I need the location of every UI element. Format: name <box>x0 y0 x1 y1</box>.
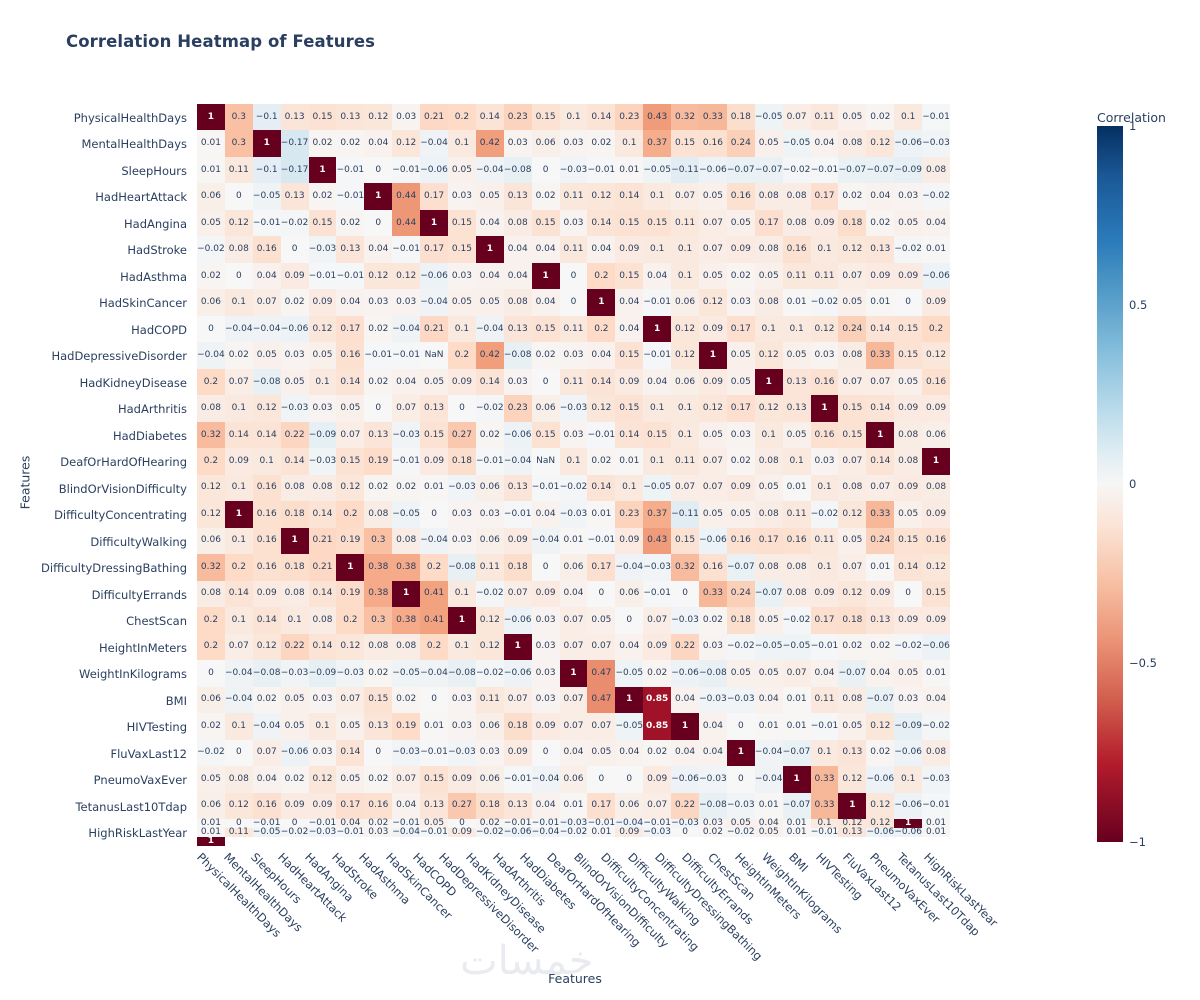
heatmap-cell[interactable]: 0.07 <box>392 395 420 421</box>
heatmap-cell[interactable]: 0 <box>420 687 448 713</box>
heatmap-cell[interactable]: −0.03 <box>448 740 476 766</box>
heatmap-cell[interactable]: 0.07 <box>699 475 727 501</box>
heatmap-cell[interactable]: −0.04 <box>476 316 504 342</box>
heatmap-cell[interactable]: 0.1 <box>894 104 922 130</box>
heatmap-cell[interactable]: −0.06 <box>671 660 699 686</box>
heatmap-cell[interactable]: −0.07 <box>755 581 783 607</box>
heatmap-cell[interactable]: 0.1 <box>671 395 699 421</box>
heatmap-cell[interactable]: 0.02 <box>532 183 560 209</box>
heatmap-cell[interactable]: 0.01 <box>197 157 225 183</box>
heatmap-cell[interactable]: 0.09 <box>894 607 922 633</box>
heatmap-cell[interactable]: −0.02 <box>476 660 504 686</box>
heatmap-cell[interactable]: 0.07 <box>643 793 671 819</box>
heatmap-cell[interactable]: 0.13 <box>364 713 392 739</box>
heatmap-cell[interactable]: 1 <box>811 395 839 421</box>
heatmap-cell[interactable]: 1 <box>336 554 364 580</box>
heatmap-cell[interactable]: 1 <box>922 448 950 474</box>
heatmap-cell[interactable]: −0.04 <box>253 713 281 739</box>
heatmap-cell[interactable]: 0.12 <box>225 793 253 819</box>
heatmap-cell[interactable]: 0.14 <box>587 210 615 236</box>
heatmap-cell[interactable]: 0.11 <box>783 263 811 289</box>
heatmap-cell[interactable]: 0.05 <box>894 660 922 686</box>
heatmap-cell[interactable]: 0.17 <box>420 183 448 209</box>
heatmap-cell[interactable]: 0.01 <box>866 554 894 580</box>
heatmap-cell[interactable]: −0.08 <box>448 660 476 686</box>
heatmap-cell[interactable]: 0.04 <box>587 236 615 262</box>
heatmap-cell[interactable]: 0.12 <box>336 475 364 501</box>
heatmap-cell[interactable]: 0 <box>225 740 253 766</box>
heatmap-cell[interactable]: 0.14 <box>309 501 337 527</box>
heatmap-cell[interactable]: −0.02 <box>727 828 755 837</box>
heatmap-cell[interactable]: 0.02 <box>309 183 337 209</box>
heatmap-cell[interactable]: −0.05 <box>253 828 281 837</box>
heatmap-cell[interactable]: 0.15 <box>838 395 866 421</box>
heatmap-cell[interactable]: −0.02 <box>197 740 225 766</box>
heatmap-cell[interactable]: 0.12 <box>671 316 699 342</box>
heatmap-cell[interactable]: 0.06 <box>615 581 643 607</box>
heatmap-cell[interactable]: −0.06 <box>894 793 922 819</box>
heatmap-cell[interactable]: 0.11 <box>560 316 588 342</box>
heatmap-cell[interactable]: 0.12 <box>866 713 894 739</box>
heatmap-cell[interactable]: 0.07 <box>783 104 811 130</box>
heatmap-cell[interactable]: 0.1 <box>643 183 671 209</box>
heatmap-cell[interactable]: 1 <box>615 687 643 713</box>
heatmap-cell[interactable]: −0.07 <box>838 660 866 686</box>
heatmap-cell[interactable]: 0.04 <box>560 581 588 607</box>
heatmap-cell[interactable]: 0.18 <box>727 104 755 130</box>
heatmap-cell[interactable]: 0.04 <box>811 660 839 686</box>
heatmap-cell[interactable]: 0.07 <box>253 740 281 766</box>
heatmap-cell[interactable]: 0.33 <box>811 793 839 819</box>
heatmap-cell[interactable]: 0.09 <box>699 316 727 342</box>
heatmap-cell[interactable]: −0.01 <box>811 828 839 837</box>
heatmap-cell[interactable]: −0.03 <box>309 236 337 262</box>
heatmap-cell[interactable]: 0.24 <box>727 581 755 607</box>
heatmap-cell[interactable]: −0.03 <box>699 687 727 713</box>
heatmap-cell[interactable]: −0.04 <box>253 316 281 342</box>
heatmap-cell[interactable]: 1 <box>197 837 225 846</box>
heatmap-cell[interactable]: 0.04 <box>392 369 420 395</box>
heatmap-cell[interactable]: −0.01 <box>420 828 448 837</box>
heatmap-cell[interactable]: 0.03 <box>532 607 560 633</box>
heatmap-cell[interactable]: 0.3 <box>225 104 253 130</box>
heatmap-cell[interactable]: 0.01 <box>587 501 615 527</box>
heatmap-cell[interactable]: 0.11 <box>225 157 253 183</box>
heatmap-cell[interactable]: 0.16 <box>811 369 839 395</box>
heatmap-cell[interactable]: 0.04 <box>699 713 727 739</box>
heatmap-cell[interactable]: 0.2 <box>225 554 253 580</box>
heatmap-cell[interactable]: 0.03 <box>504 369 532 395</box>
heatmap-cell[interactable]: −0.04 <box>197 342 225 368</box>
heatmap-cell[interactable]: −0.01 <box>336 263 364 289</box>
heatmap-cell[interactable]: 0.16 <box>253 236 281 262</box>
heatmap-cell[interactable]: 1 <box>671 713 699 739</box>
heatmap-cell[interactable]: −0.09 <box>894 713 922 739</box>
heatmap-cell[interactable]: 0.1 <box>225 395 253 421</box>
heatmap-cell[interactable]: 0.04 <box>392 793 420 819</box>
heatmap-cell[interactable]: −0.02 <box>894 236 922 262</box>
heatmap-cell[interactable]: 0.05 <box>838 289 866 315</box>
heatmap-cell[interactable]: 0.16 <box>783 236 811 262</box>
heatmap-cell[interactable]: −0.04 <box>504 448 532 474</box>
heatmap-cell[interactable]: 0.05 <box>476 183 504 209</box>
heatmap-cell[interactable]: 0.47 <box>587 660 615 686</box>
heatmap-cell[interactable]: −0.05 <box>783 130 811 156</box>
heatmap-cell[interactable]: 0.1 <box>225 475 253 501</box>
heatmap-cell[interactable]: −0.1 <box>253 157 281 183</box>
heatmap-cell[interactable]: 0.05 <box>587 607 615 633</box>
heatmap-cell[interactable]: 0.05 <box>894 210 922 236</box>
heatmap-cell[interactable]: 1 <box>838 793 866 819</box>
heatmap-cell[interactable]: 0.03 <box>448 713 476 739</box>
heatmap-cell[interactable]: 0.09 <box>894 475 922 501</box>
heatmap-cell[interactable]: −0.06 <box>671 766 699 792</box>
heatmap-cell[interactable]: −0.01 <box>253 210 281 236</box>
heatmap-cell[interactable]: −0.05 <box>615 660 643 686</box>
heatmap-cell[interactable]: 0.1 <box>615 130 643 156</box>
heatmap-cell[interactable]: −0.07 <box>866 157 894 183</box>
heatmap-cell[interactable]: −0.01 <box>364 342 392 368</box>
heatmap-cell[interactable]: NaN <box>420 342 448 368</box>
heatmap-cell[interactable]: 0.12 <box>671 342 699 368</box>
heatmap-cell[interactable]: −0.01 <box>476 448 504 474</box>
heatmap-cell[interactable]: −0.03 <box>281 395 309 421</box>
heatmap-cell[interactable]: −0.02 <box>922 183 950 209</box>
heatmap-cell[interactable]: −0.05 <box>392 501 420 527</box>
heatmap-cell[interactable]: −0.04 <box>532 528 560 554</box>
heatmap-cell[interactable]: 0.02 <box>197 263 225 289</box>
heatmap-cell[interactable]: 0.02 <box>838 183 866 209</box>
heatmap-cell[interactable]: 0.04 <box>532 236 560 262</box>
heatmap-cell[interactable]: 0.09 <box>615 828 643 837</box>
heatmap-cell[interactable]: 0.32 <box>197 422 225 448</box>
heatmap-cell[interactable]: 0.15 <box>532 104 560 130</box>
heatmap-cell[interactable]: −0.05 <box>253 183 281 209</box>
heatmap-cell[interactable]: 0.01 <box>783 289 811 315</box>
heatmap-cell[interactable]: −0.02 <box>922 713 950 739</box>
heatmap-cell[interactable]: 0.18 <box>476 793 504 819</box>
heatmap-cell[interactable]: 0.08 <box>309 475 337 501</box>
heatmap-cell[interactable]: 0.2 <box>587 316 615 342</box>
heatmap-cell[interactable]: 0.42 <box>476 342 504 368</box>
heatmap-cell[interactable]: 0.01 <box>783 475 811 501</box>
heatmap-cell[interactable]: 0.1 <box>643 236 671 262</box>
heatmap-cell[interactable]: −0.07 <box>838 157 866 183</box>
heatmap-cell[interactable]: 0.1 <box>671 263 699 289</box>
heatmap-cell[interactable]: −0.06 <box>699 528 727 554</box>
heatmap-cell[interactable]: −0.01 <box>811 713 839 739</box>
heatmap-cell[interactable]: 0.22 <box>671 634 699 660</box>
heatmap-cell[interactable]: 0.85 <box>643 713 671 739</box>
heatmap-cell[interactable]: 0.16 <box>783 528 811 554</box>
heatmap-cell[interactable]: 0.14 <box>476 104 504 130</box>
heatmap-cell[interactable]: −0.02 <box>811 289 839 315</box>
heatmap-cell[interactable]: 0.05 <box>894 369 922 395</box>
heatmap-cell[interactable]: 0.2 <box>197 634 225 660</box>
heatmap-cell[interactable]: 0.08 <box>922 740 950 766</box>
heatmap-cell[interactable]: 0.04 <box>922 210 950 236</box>
heatmap-cell[interactable]: −0.04 <box>420 130 448 156</box>
heatmap-cell[interactable]: 0.1 <box>811 740 839 766</box>
heatmap-cell[interactable]: 0.04 <box>615 740 643 766</box>
heatmap-cell[interactable]: −0.04 <box>615 554 643 580</box>
heatmap-cell[interactable]: 0.07 <box>866 475 894 501</box>
heatmap-cell[interactable]: 0.32 <box>671 554 699 580</box>
heatmap-cell[interactable]: 0.05 <box>253 342 281 368</box>
heatmap-cell[interactable]: 0.11 <box>811 104 839 130</box>
heatmap-cell[interactable]: −0.01 <box>504 766 532 792</box>
heatmap-cell[interactable]: −0.06 <box>699 157 727 183</box>
heatmap-cell[interactable]: 0.13 <box>281 183 309 209</box>
heatmap-cell[interactable]: 0.09 <box>448 369 476 395</box>
heatmap-cell[interactable]: 0.06 <box>197 793 225 819</box>
heatmap-cell[interactable]: 0.08 <box>392 634 420 660</box>
heatmap-cell[interactable]: −0.03 <box>336 660 364 686</box>
heatmap-cell[interactable]: 0.12 <box>364 104 392 130</box>
heatmap-cell[interactable]: 1 <box>727 740 755 766</box>
heatmap-cell[interactable]: −0.02 <box>560 828 588 837</box>
heatmap-cell[interactable]: 0.14 <box>866 316 894 342</box>
heatmap-cell[interactable]: 0.15 <box>448 236 476 262</box>
heatmap-cell[interactable]: 0.33 <box>866 501 894 527</box>
heatmap-cell[interactable]: 0.06 <box>476 475 504 501</box>
heatmap-cell[interactable]: 0.05 <box>727 501 755 527</box>
heatmap-cell[interactable]: 0.18 <box>281 501 309 527</box>
heatmap-cell[interactable]: 0.21 <box>309 528 337 554</box>
heatmap-cell[interactable]: −0.06 <box>894 740 922 766</box>
heatmap-cell[interactable]: −0.03 <box>560 157 588 183</box>
heatmap-cell[interactable]: 0.03 <box>448 263 476 289</box>
heatmap-cell[interactable]: −0.06 <box>504 828 532 837</box>
heatmap-cell[interactable]: 0.08 <box>838 342 866 368</box>
heatmap-cell[interactable]: 0.05 <box>783 422 811 448</box>
heatmap-cell[interactable]: 0.1 <box>448 130 476 156</box>
heatmap-cell[interactable]: −0.03 <box>671 607 699 633</box>
heatmap-cell[interactable]: 0.1 <box>783 448 811 474</box>
heatmap-cell[interactable]: 0.17 <box>336 793 364 819</box>
heatmap-cell[interactable]: 0.09 <box>866 263 894 289</box>
heatmap-cell[interactable]: −0.11 <box>671 157 699 183</box>
heatmap-cell[interactable]: 0.01 <box>197 130 225 156</box>
heatmap-cell[interactable]: −0.07 <box>727 554 755 580</box>
heatmap-cell[interactable]: 0.1 <box>643 395 671 421</box>
heatmap-cell[interactable]: 0.12 <box>811 316 839 342</box>
heatmap-cell[interactable]: 0.06 <box>560 554 588 580</box>
heatmap-cell[interactable]: −0.03 <box>309 448 337 474</box>
heatmap-cell[interactable]: 0.03 <box>894 183 922 209</box>
heatmap-cell[interactable]: 0.04 <box>532 289 560 315</box>
heatmap-cell[interactable]: −0.04 <box>225 660 253 686</box>
heatmap-cell[interactable]: 0.11 <box>560 236 588 262</box>
heatmap-cell[interactable]: 0.04 <box>587 342 615 368</box>
heatmap-cell[interactable]: 0.14 <box>253 422 281 448</box>
heatmap-cell[interactable]: 0.15 <box>922 581 950 607</box>
heatmap-cell[interactable]: −0.05 <box>755 104 783 130</box>
heatmap-cell[interactable]: 0.03 <box>560 342 588 368</box>
heatmap-cell[interactable]: 0.06 <box>671 369 699 395</box>
heatmap-cell[interactable]: 0.02 <box>727 448 755 474</box>
heatmap-cell[interactable]: NaN <box>532 448 560 474</box>
heatmap-cell[interactable]: 0.13 <box>838 740 866 766</box>
heatmap-cell[interactable]: 0.04 <box>922 687 950 713</box>
heatmap-cell[interactable]: 0 <box>281 236 309 262</box>
heatmap-cell[interactable]: 0.05 <box>755 263 783 289</box>
heatmap-cell[interactable]: 0.17 <box>727 316 755 342</box>
heatmap-cell[interactable]: −0.03 <box>699 766 727 792</box>
heatmap-cell[interactable]: 0.15 <box>671 130 699 156</box>
heatmap-cell[interactable]: 0.09 <box>225 448 253 474</box>
heatmap-cell[interactable]: 0.03 <box>448 528 476 554</box>
heatmap-cell[interactable]: 0.12 <box>866 130 894 156</box>
heatmap-cell[interactable]: 0.05 <box>755 828 783 837</box>
heatmap-cell[interactable]: 0.09 <box>643 766 671 792</box>
heatmap-cell[interactable]: 0.04 <box>866 660 894 686</box>
heatmap-cell[interactable]: 0.08 <box>197 395 225 421</box>
heatmap-cell[interactable]: −0.01 <box>392 342 420 368</box>
heatmap-cell[interactable]: 0.33 <box>699 581 727 607</box>
heatmap-cell[interactable]: 0 <box>364 210 392 236</box>
heatmap-cell[interactable]: −0.01 <box>587 157 615 183</box>
heatmap-cell[interactable]: 0 <box>560 289 588 315</box>
heatmap-cell[interactable]: 0.1 <box>671 236 699 262</box>
heatmap-cell[interactable]: 1 <box>448 607 476 633</box>
heatmap-cell[interactable]: −0.02 <box>783 157 811 183</box>
heatmap-cell[interactable]: −0.02 <box>281 828 309 837</box>
heatmap-cell[interactable]: 0 <box>587 766 615 792</box>
heatmap-cell[interactable]: 0.08 <box>504 210 532 236</box>
heatmap-cell[interactable]: 0.18 <box>727 607 755 633</box>
heatmap-cell[interactable]: −0.07 <box>783 740 811 766</box>
heatmap-cell[interactable]: −0.09 <box>309 660 337 686</box>
heatmap-cell[interactable]: 0.04 <box>476 210 504 236</box>
heatmap-cell[interactable]: 0.06 <box>197 183 225 209</box>
heatmap-cell[interactable]: −0.09 <box>894 157 922 183</box>
heatmap-cell[interactable]: 0.27 <box>448 793 476 819</box>
heatmap-cell[interactable]: 0.05 <box>727 210 755 236</box>
heatmap-cell[interactable]: 0.02 <box>866 634 894 660</box>
heatmap-cell[interactable]: 1 <box>420 210 448 236</box>
heatmap-cell[interactable]: −0.01 <box>336 183 364 209</box>
heatmap-cell[interactable]: 0.09 <box>504 528 532 554</box>
heatmap-cell[interactable]: 0.1 <box>281 607 309 633</box>
heatmap-cell[interactable]: −0.05 <box>392 660 420 686</box>
heatmap-cell[interactable]: 0.85 <box>643 687 671 713</box>
heatmap-cell[interactable]: 0.11 <box>560 183 588 209</box>
heatmap-cell[interactable]: 0.08 <box>755 183 783 209</box>
heatmap-cell[interactable]: 0.03 <box>476 740 504 766</box>
heatmap-cell[interactable]: 0.13 <box>336 104 364 130</box>
heatmap-cell[interactable]: 0.15 <box>671 528 699 554</box>
heatmap-cell[interactable]: 0.15 <box>643 422 671 448</box>
heatmap-cell[interactable]: 0.21 <box>420 316 448 342</box>
heatmap-cell[interactable]: 0.07 <box>866 369 894 395</box>
heatmap-cell[interactable]: 0.38 <box>392 607 420 633</box>
heatmap-cell[interactable]: 0.16 <box>253 528 281 554</box>
heatmap-cell[interactable]: 0.13 <box>783 395 811 421</box>
heatmap-cell[interactable]: −0.04 <box>225 687 253 713</box>
heatmap-cell[interactable]: −0.04 <box>476 157 504 183</box>
heatmap-cell[interactable]: 0.12 <box>392 130 420 156</box>
heatmap-cell[interactable]: −0.06 <box>281 316 309 342</box>
heatmap-cell[interactable]: 0.02 <box>699 828 727 837</box>
heatmap-cell[interactable]: −0.04 <box>420 289 448 315</box>
heatmap-cell[interactable]: −0.01 <box>922 793 950 819</box>
heatmap-cell[interactable]: 1 <box>587 289 615 315</box>
heatmap-cell[interactable]: 0.04 <box>560 740 588 766</box>
heatmap-cell[interactable]: −0.04 <box>392 316 420 342</box>
heatmap-cell[interactable]: 0.03 <box>309 687 337 713</box>
heatmap-cell[interactable]: 0.03 <box>727 422 755 448</box>
heatmap-cell[interactable]: 0.07 <box>838 448 866 474</box>
heatmap-cell[interactable]: 0.05 <box>281 687 309 713</box>
heatmap-cell[interactable]: 0.09 <box>615 236 643 262</box>
heatmap-cell[interactable]: 0.09 <box>894 263 922 289</box>
heatmap-cell[interactable]: 0.12 <box>922 342 950 368</box>
heatmap-cell[interactable]: −0.03 <box>643 554 671 580</box>
heatmap-cell[interactable]: 0.1 <box>225 528 253 554</box>
heatmap-cell[interactable]: 0.1 <box>448 316 476 342</box>
heatmap-cell[interactable]: 0.23 <box>504 395 532 421</box>
heatmap-cell[interactable]: 1 <box>866 422 894 448</box>
heatmap-cell[interactable]: 0.14 <box>336 740 364 766</box>
heatmap-cell[interactable]: −0.05 <box>643 157 671 183</box>
heatmap-cell[interactable]: 0.16 <box>336 342 364 368</box>
heatmap-cell[interactable]: 0.12 <box>755 395 783 421</box>
heatmap-cell[interactable]: 0.17 <box>755 528 783 554</box>
heatmap-cell[interactable]: −0.08 <box>504 342 532 368</box>
heatmap-cell[interactable]: 0.09 <box>811 581 839 607</box>
heatmap-cell[interactable]: 0.05 <box>336 395 364 421</box>
heatmap-cell[interactable]: −0.02 <box>811 501 839 527</box>
heatmap-cell[interactable]: 0.03 <box>364 289 392 315</box>
heatmap-cell[interactable]: 0.03 <box>448 687 476 713</box>
heatmap-cell[interactable]: 0.04 <box>671 740 699 766</box>
heatmap-cell[interactable]: 0.19 <box>392 713 420 739</box>
heatmap-cell[interactable]: 0 <box>364 395 392 421</box>
heatmap-cell[interactable]: 0.01 <box>560 793 588 819</box>
heatmap-cell[interactable]: −0.02 <box>560 475 588 501</box>
heatmap-cell[interactable]: 0.19 <box>336 528 364 554</box>
heatmap-cell[interactable]: 0.12 <box>838 501 866 527</box>
heatmap-cell[interactable]: 0.12 <box>699 289 727 315</box>
heatmap-cell[interactable]: 0.47 <box>587 687 615 713</box>
heatmap-cell[interactable]: 0.02 <box>643 660 671 686</box>
heatmap-cell[interactable]: 0.04 <box>336 289 364 315</box>
heatmap-cell[interactable]: −0.03 <box>922 130 950 156</box>
heatmap-cell[interactable]: 0.02 <box>197 713 225 739</box>
heatmap-cell[interactable]: 0.08 <box>838 687 866 713</box>
heatmap-cell[interactable]: −0.06 <box>420 157 448 183</box>
heatmap-cell[interactable]: −0.01 <box>811 157 839 183</box>
heatmap-cell[interactable]: −0.01 <box>504 501 532 527</box>
heatmap-cell[interactable]: 0.3 <box>364 607 392 633</box>
heatmap-cell[interactable]: 0.21 <box>420 104 448 130</box>
heatmap-cell[interactable]: 0.12 <box>197 475 225 501</box>
heatmap-cell[interactable]: 0.1 <box>448 581 476 607</box>
heatmap-cell[interactable]: 0.01 <box>615 157 643 183</box>
heatmap-cell[interactable]: 0.09 <box>922 501 950 527</box>
heatmap-cell[interactable]: 0.08 <box>783 581 811 607</box>
heatmap-cell[interactable]: 0.12 <box>336 634 364 660</box>
heatmap-cell[interactable]: 0.03 <box>811 448 839 474</box>
heatmap-cell[interactable]: 0.02 <box>838 634 866 660</box>
heatmap-cell[interactable]: 0.07 <box>253 289 281 315</box>
heatmap-cell[interactable]: 0.03 <box>811 342 839 368</box>
heatmap-cell[interactable]: 0.38 <box>364 581 392 607</box>
heatmap-cell[interactable]: −0.03 <box>560 501 588 527</box>
heatmap-cell[interactable]: 0.01 <box>615 448 643 474</box>
heatmap-cell[interactable]: 0.03 <box>392 289 420 315</box>
